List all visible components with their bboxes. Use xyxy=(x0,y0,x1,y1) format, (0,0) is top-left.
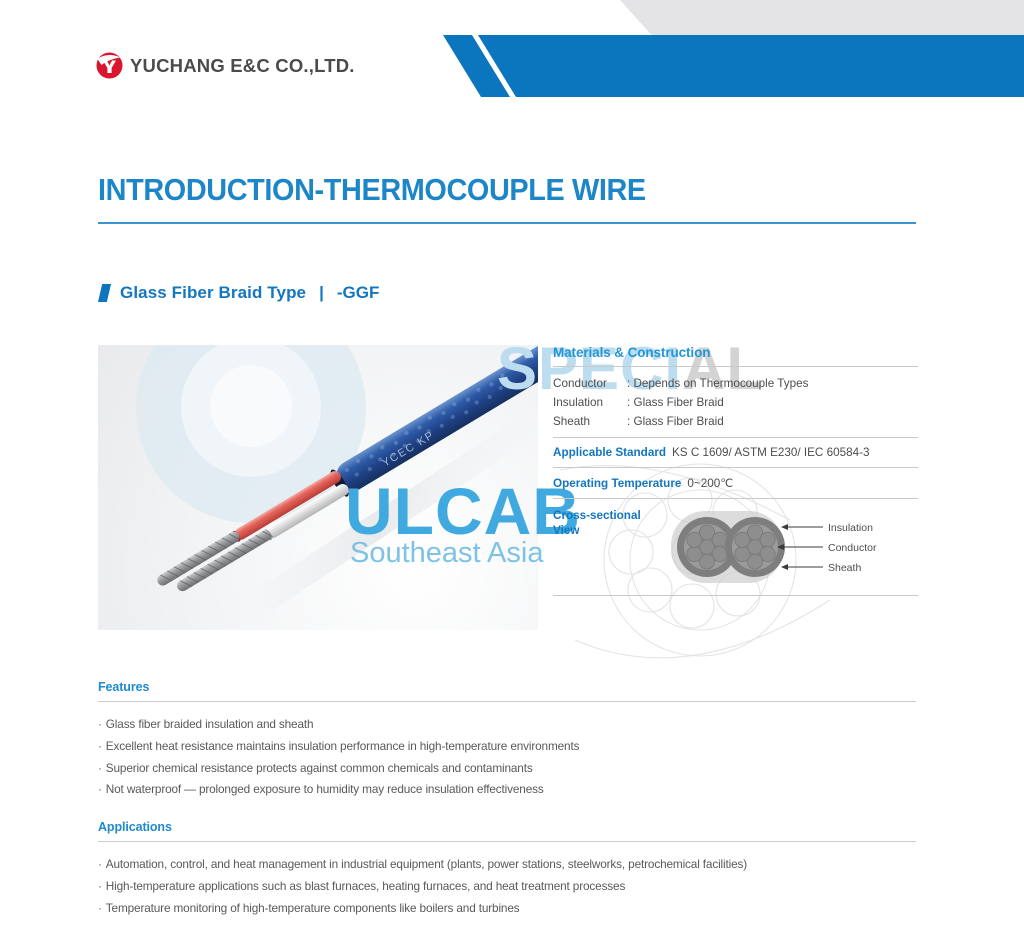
list-item: ·Temperature monitoring of high-temperat… xyxy=(98,898,916,920)
cable-illustration: YCEC KP xyxy=(98,345,538,630)
list-item: ·Not waterproof — prolonged exposure to … xyxy=(98,779,916,801)
operating-temperature-label: Operating Temperature xyxy=(553,477,681,490)
spec-row-list: Conductor : Depends on Thermocouple Type… xyxy=(553,367,918,437)
spec-key: Sheath xyxy=(553,412,627,431)
product-subtitle: Glass Fiber Braid Type | -GGF xyxy=(98,283,379,303)
operating-temperature-row: Operating Temperature 0~200℃ xyxy=(553,468,918,498)
feature-text: Glass fiber braided insulation and sheat… xyxy=(106,717,314,731)
features-section: Features ·Glass fiber braided insulation… xyxy=(98,680,916,801)
feature-text: Not waterproof — prolonged exposure to h… xyxy=(106,782,544,796)
applications-list: ·Automation, control, and heat managemen… xyxy=(98,854,916,919)
product-photo: YCEC KP xyxy=(98,345,538,630)
features-heading: Features xyxy=(98,680,916,694)
cross-section-diagram: Insulation Conductor Sheath xyxy=(663,501,918,593)
page-header: YUCHANG E&C CO.,LTD. xyxy=(0,0,1024,118)
spec-divider-5 xyxy=(553,595,918,596)
applicable-standard-row: Applicable Standard KS C 1609/ ASTM E230… xyxy=(553,438,918,467)
callout-sheath: Sheath xyxy=(828,562,861,574)
list-item: ·Automation, control, and heat managemen… xyxy=(98,854,916,876)
spec-row: Sheath : Glass Fiber Braid xyxy=(553,412,918,431)
spec-row: Conductor : Depends on Thermocouple Type… xyxy=(553,374,918,393)
product-type-label: Glass Fiber Braid Type xyxy=(120,283,306,303)
list-item: ·Excellent heat resistance maintains ins… xyxy=(98,736,916,758)
product-code: -GGF xyxy=(337,283,380,303)
cross-section-title-line2: View xyxy=(553,524,579,537)
datasheet-page: YUCHANG E&C CO.,LTD. INTRODUCTION-THERMO… xyxy=(0,0,1024,931)
slash-marker-icon xyxy=(98,284,111,302)
application-text: High-temperature applications such as bl… xyxy=(106,879,625,893)
callout-conductor: Conductor xyxy=(828,542,877,554)
yuchang-logo-icon xyxy=(96,52,123,79)
header-grey-band xyxy=(0,0,1024,40)
spec-key: Conductor xyxy=(553,374,627,393)
spec-row: Insulation : Glass Fiber Braid xyxy=(553,393,918,412)
materials-construction-panel: Materials & Construction Conductor : Dep… xyxy=(553,345,918,596)
features-divider xyxy=(98,701,916,702)
application-text: Automation, control, and heat management… xyxy=(106,857,747,871)
cross-section-title-line1: Cross-sectional xyxy=(553,509,641,522)
features-list: ·Glass fiber braided insulation and shea… xyxy=(98,714,916,801)
applications-section: Applications ·Automation, control, and h… xyxy=(98,820,916,919)
feature-text: Superior chemical resistance protects ag… xyxy=(106,761,533,775)
applicable-standard-value: KS C 1609/ ASTM E230/ IEC 60584-3 xyxy=(672,446,870,459)
feature-text: Excellent heat resistance maintains insu… xyxy=(106,739,580,753)
company-name: YUCHANG E&C CO.,LTD. xyxy=(130,55,355,77)
cross-section-title: Cross-sectional View xyxy=(553,508,663,538)
applications-heading: Applications xyxy=(98,820,916,834)
spec-heading: Materials & Construction xyxy=(553,345,918,360)
title-divider xyxy=(98,222,916,224)
spec-value: : Glass Fiber Braid xyxy=(627,393,918,412)
list-item: ·Glass fiber braided insulation and shea… xyxy=(98,714,916,736)
company-logo[interactable]: YUCHANG E&C CO.,LTD. xyxy=(96,52,355,79)
spec-key: Insulation xyxy=(553,393,627,412)
operating-temperature-value: 0~200℃ xyxy=(687,476,733,490)
callout-insulation: Insulation xyxy=(828,522,873,534)
cross-sectional-view-row: Cross-sectional View xyxy=(553,499,918,595)
list-item: ·High-temperature applications such as b… xyxy=(98,876,916,898)
spec-value: : Depends on Thermocouple Types xyxy=(627,374,918,393)
applicable-standard-label: Applicable Standard xyxy=(553,446,666,459)
application-text: Temperature monitoring of high-temperatu… xyxy=(106,901,520,915)
applications-divider xyxy=(98,841,916,842)
list-item: ·Superior chemical resistance protects a… xyxy=(98,758,916,780)
page-title: INTRODUCTION-THERMOCOUPLE WIRE xyxy=(98,172,646,208)
spec-value: : Glass Fiber Braid xyxy=(627,412,918,431)
subtitle-separator: | xyxy=(319,283,324,303)
